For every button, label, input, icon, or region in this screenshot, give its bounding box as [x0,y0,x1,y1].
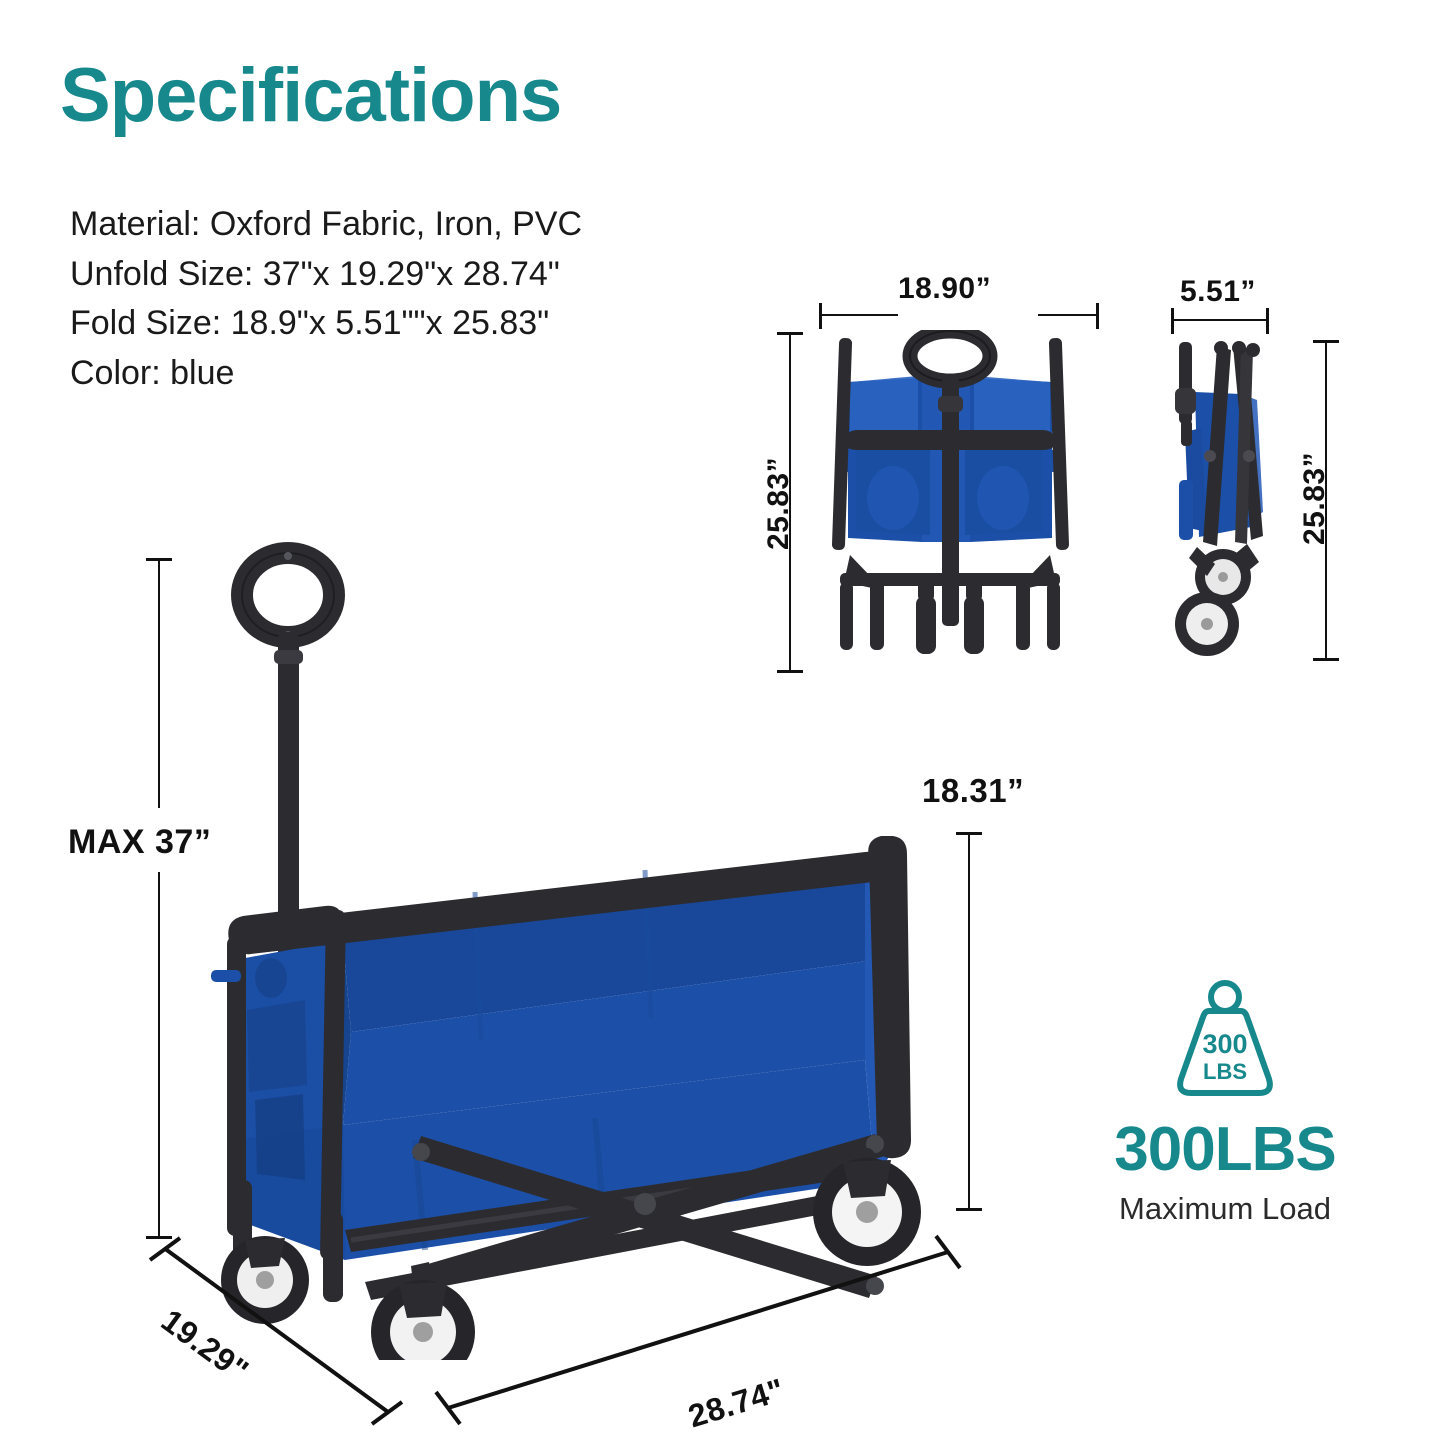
folded-side-width-cap-right [1266,308,1269,334]
weight-icon-value: 300 [1202,1029,1247,1059]
spec-unfold-size: Unfold Size: 37"x 19.29"x 28.74" [70,250,770,300]
folded-front-width-cap-left [819,303,822,329]
wagon-height-cap-top [146,558,172,561]
max-load-subtitle: Maximum Load [1055,1191,1395,1227]
spec-color: Color: blue [70,349,770,399]
wagon-height-line-lower [158,872,160,1238]
spec-fold-size: Fold Size: 18.9"x 5.51""x 25.83" [70,299,770,349]
specification-list: Material: Oxford Fabric, Iron, PVC Unfol… [70,200,770,399]
max-load-block: 300 LBS 300LBS Maximum Load [1055,975,1395,1227]
folded-side-width-line [1172,319,1268,321]
wagon-height-line-upper [158,560,160,808]
max-load-headline: 300LBS [1055,1119,1395,1181]
folded-front-width-label: 18.90” [898,272,991,306]
specifications-infographic: Specifications Material: Oxford Fabric, … [0,0,1445,1445]
spec-material: Material: Oxford Fabric, Iron, PVC [70,200,770,250]
folded-front-height-cap-top [777,332,803,335]
folded-wagon-side-view [1155,332,1325,662]
folded-front-height-label: 25.83” [762,457,796,550]
weight-icon-unit: LBS [1203,1059,1247,1084]
folded-side-width-label: 5.51” [1180,275,1256,309]
folded-front-width-cap-right [1096,303,1099,329]
weight-icon: 300 LBS [1165,975,1285,1105]
folded-front-width-line-right [1038,314,1098,316]
folded-side-width-cap-left [1171,308,1174,334]
page-title: Specifications [60,58,561,134]
folded-front-width-line-left [820,314,898,316]
wagon-bed-height-line [968,833,970,1211]
